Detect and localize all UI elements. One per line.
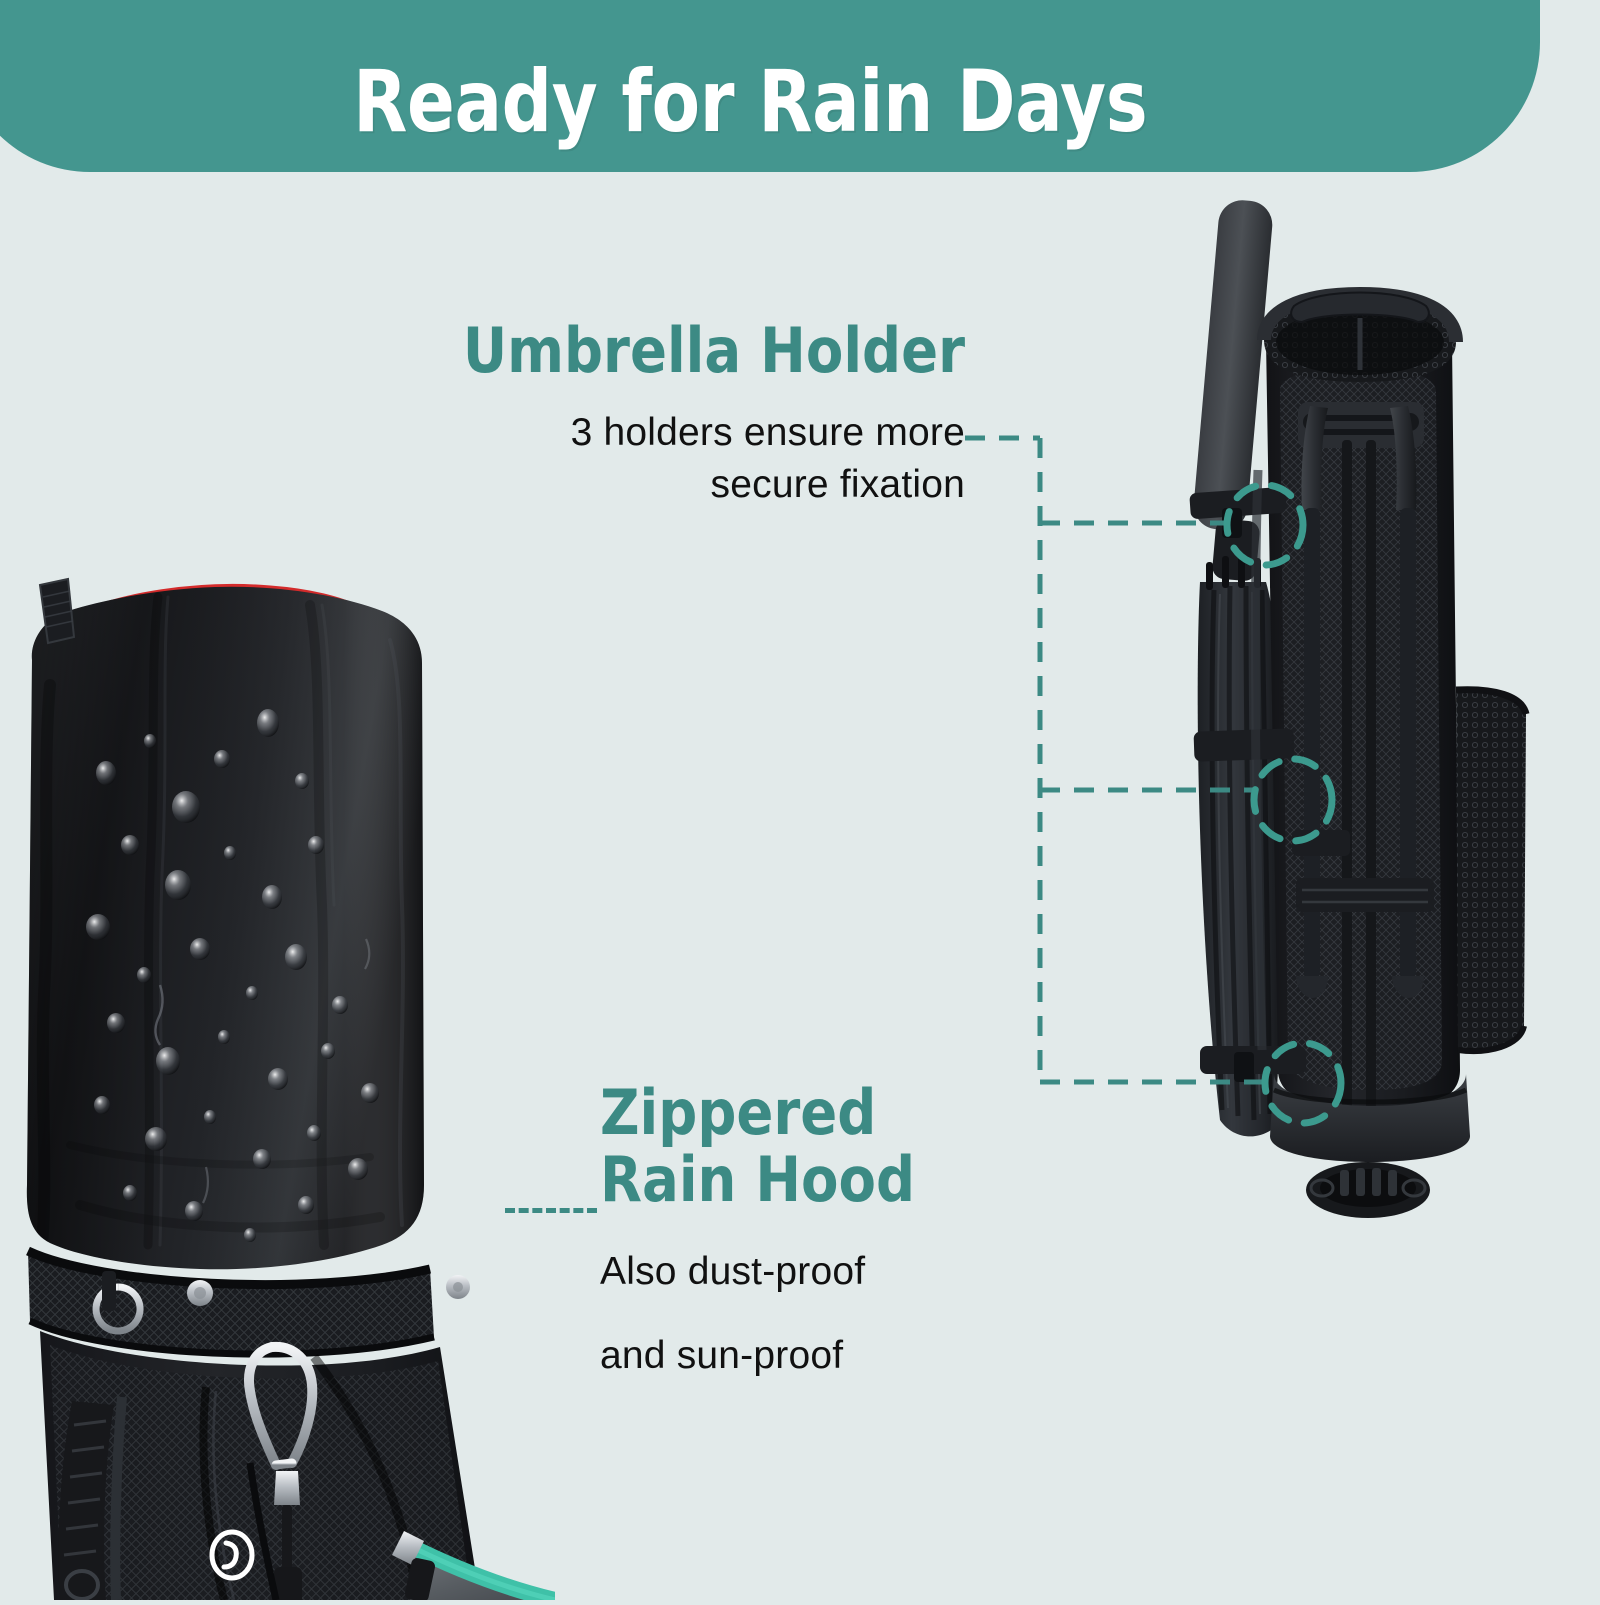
feature-title-umbrella-holder: Umbrella Holder xyxy=(380,318,965,385)
product-photo-folded-bag xyxy=(1170,190,1570,1225)
feature-body-line-1: 3 holders ensure more xyxy=(300,407,965,459)
feature-title-line-1: Zippered xyxy=(600,1080,1040,1147)
header-banner: Ready for Rain Days xyxy=(0,0,1540,172)
feature-zippered-rain-hood: Zippered Rain Hood Also dust-proof and s… xyxy=(600,1080,1100,1382)
page-title: Ready for Rain Days xyxy=(353,52,1147,152)
product-photo-rain-hood-bag xyxy=(10,545,555,1600)
stand-foot xyxy=(1306,1162,1430,1218)
feature-title-line-2: Rain Hood xyxy=(600,1147,1040,1214)
feature-body-line-2: secure fixation xyxy=(300,459,965,511)
leader-dash-rain-hood xyxy=(505,1208,597,1213)
feature-body-line-2: and sun-proof xyxy=(600,1330,1100,1382)
side-mesh-pocket xyxy=(1456,690,1526,1051)
feature-umbrella-holder: Umbrella Holder 3 holders ensure more se… xyxy=(300,318,965,511)
mid-strap xyxy=(1296,878,1434,912)
infographic-stage: Ready for Rain Days xyxy=(0,0,1600,1600)
feature-body-line-1: Also dust-proof xyxy=(600,1246,1100,1298)
